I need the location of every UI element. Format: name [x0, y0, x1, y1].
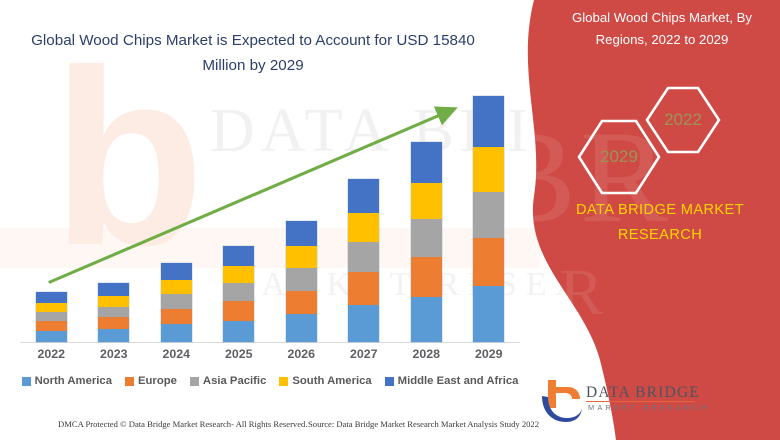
- x-tick-2027: 2027: [338, 347, 390, 361]
- bar-segment-asia-pacific: [411, 219, 442, 256]
- bar-segment-asia-pacific: [473, 192, 504, 238]
- chart-title: Global Wood Chips Market is Expected to …: [18, 28, 488, 78]
- bar-segment-south-america: [473, 147, 504, 191]
- bar-segment-europe: [411, 257, 442, 297]
- hexagon-2029: 2029: [576, 118, 662, 196]
- bar-segment-europe: [161, 309, 192, 325]
- panel-watermark-amp: &R: [510, 255, 615, 331]
- legend-swatch-icon: [125, 377, 134, 386]
- bar-2026: [286, 221, 317, 342]
- bar-segment-asia-pacific: [98, 307, 129, 318]
- legend-swatch-icon: [22, 377, 31, 386]
- bar-segment-europe: [286, 291, 317, 315]
- bar-2023: [98, 283, 129, 342]
- x-tick-2026: 2026: [275, 347, 327, 361]
- bar-segment-middle-east-and-africa: [348, 179, 379, 213]
- legend-item-europe[interactable]: Europe: [125, 375, 177, 387]
- bar-segment-europe: [348, 272, 379, 305]
- bar-2029: [473, 96, 504, 342]
- panel-brand-line-2: RESEARCH: [545, 223, 775, 248]
- legend-label: North America: [35, 375, 112, 387]
- bar-segment-south-america: [98, 296, 129, 307]
- bar-segment-south-america: [36, 303, 67, 312]
- bar-segment-north-america: [411, 297, 442, 342]
- bar-2028: [411, 142, 442, 342]
- x-tick-2023: 2023: [88, 347, 140, 361]
- panel-brand-text: DATA BRIDGE MARKET RESEARCH: [545, 198, 775, 248]
- bar-segment-middle-east-and-africa: [286, 221, 317, 246]
- x-tick-2028: 2028: [400, 347, 452, 361]
- x-tick-2022: 2022: [25, 347, 77, 361]
- bar-segment-north-america: [223, 321, 254, 342]
- legend-item-north-america[interactable]: North America: [22, 375, 112, 387]
- hexagon-2029-label: 2029: [600, 147, 638, 167]
- legend-label: Europe: [138, 375, 177, 387]
- bar-segment-asia-pacific: [223, 283, 254, 301]
- bar-2022: [36, 292, 67, 342]
- bar-segment-europe: [36, 321, 67, 331]
- logo-subtitle: MARKET RESEARCH: [588, 403, 710, 412]
- bar-segment-south-america: [411, 183, 442, 219]
- legend-item-middle-east-and-africa[interactable]: Middle East and Africa: [385, 375, 519, 387]
- bar-segment-europe: [473, 238, 504, 287]
- bar-segment-asia-pacific: [286, 268, 317, 291]
- infographic-canvas: b DATA BRIDGE MARKET RESEARCH Global Woo…: [0, 0, 780, 440]
- x-tick-2029: 2029: [463, 347, 515, 361]
- footer-copyright: DMCA Protected © Data Bridge Market Rese…: [58, 419, 308, 429]
- x-tick-2025: 2025: [213, 347, 265, 361]
- x-tick-2024: 2024: [150, 347, 202, 361]
- hexagon-2022-label: 2022: [664, 110, 702, 130]
- bar-segment-north-america: [98, 329, 129, 342]
- dbmr-logo-mark-icon: [538, 378, 584, 424]
- bar-segment-south-america: [223, 266, 254, 283]
- bar-segment-middle-east-and-africa: [98, 283, 129, 296]
- panel-brand-line-1: DATA BRIDGE MARKET: [545, 198, 775, 223]
- bar-segment-north-america: [348, 305, 379, 342]
- bar-segment-north-america: [473, 286, 504, 342]
- logo-name: DATA BRIDGE: [586, 384, 700, 402]
- x-axis-labels: 20222023202420252026202720282029: [20, 347, 520, 367]
- bar-segment-asia-pacific: [36, 312, 67, 321]
- chart-legend: North AmericaEuropeAsia PacificSouth Ame…: [14, 375, 526, 387]
- right-red-panel: BR &R Global Wood Chips Market, By Regio…: [510, 0, 780, 440]
- bar-segment-north-america: [36, 331, 67, 342]
- legend-swatch-icon: [279, 377, 288, 386]
- x-axis-line: [20, 342, 520, 343]
- legend-label: Middle East and Africa: [398, 375, 519, 387]
- legend-swatch-icon: [385, 377, 394, 386]
- bar-segment-middle-east-and-africa: [36, 292, 67, 303]
- panel-title: Global Wood Chips Market, By Regions, 20…: [550, 7, 774, 51]
- bar-2025: [223, 246, 254, 342]
- bar-segment-north-america: [161, 324, 192, 342]
- bar-segment-middle-east-and-africa: [411, 142, 442, 183]
- chart-plot-area: [20, 95, 520, 343]
- bar-2027: [348, 179, 379, 342]
- bar-segment-europe: [98, 317, 129, 329]
- hexagon-group: 2022 2029: [558, 85, 768, 195]
- bar-segment-asia-pacific: [161, 294, 192, 308]
- bar-2024: [161, 263, 192, 342]
- legend-label: Asia Pacific: [203, 375, 266, 387]
- footer-source: Source: Data Bridge Market Research Mark…: [308, 419, 539, 429]
- bar-segment-asia-pacific: [348, 242, 379, 272]
- bar-segment-north-america: [286, 314, 317, 342]
- dbmr-logo: DATA BRIDGE MARKET RESEARCH: [538, 378, 718, 428]
- bar-segment-europe: [223, 301, 254, 320]
- bar-segment-south-america: [348, 213, 379, 242]
- legend-item-south-america[interactable]: South America: [279, 375, 371, 387]
- bar-segment-middle-east-and-africa: [161, 263, 192, 280]
- bar-segment-middle-east-and-africa: [223, 246, 254, 266]
- legend-item-asia-pacific[interactable]: Asia Pacific: [190, 375, 266, 387]
- bar-segment-south-america: [286, 246, 317, 268]
- legend-swatch-icon: [190, 377, 199, 386]
- bar-segment-middle-east-and-africa: [473, 96, 504, 147]
- legend-label: South America: [292, 375, 371, 387]
- bar-segment-south-america: [161, 280, 192, 294]
